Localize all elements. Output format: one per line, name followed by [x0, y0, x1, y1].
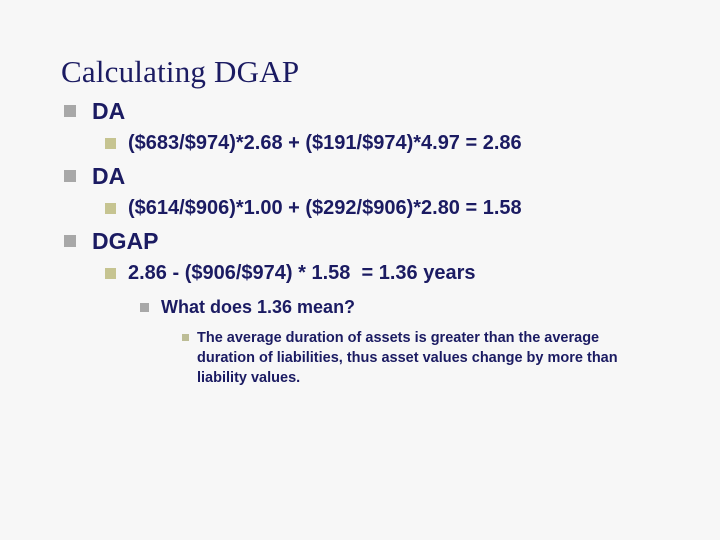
square-bullet-icon — [105, 268, 116, 279]
bullet-label: DGAP — [92, 226, 720, 256]
square-bullet-icon — [64, 105, 76, 117]
bullet-label: ($683/$974)*2.68 + ($191/$974)*4.97 = 2.… — [128, 130, 720, 157]
bullet-label: ($614/$906)*1.00 + ($292/$906)*2.80 = 1.… — [128, 195, 720, 222]
page-title: Calculating DGAP — [61, 53, 299, 90]
square-bullet-icon — [105, 203, 116, 214]
bullet-item-level4-explanation: The average duration of assets is greate… — [0, 328, 720, 388]
bullet-item-level1-dgap: DGAP — [0, 226, 720, 256]
bullet-item-level2-dgap-formula: 2.86 - ($906/$974) * 1.58 = 1.36 years — [0, 260, 720, 287]
bullet-label: The average duration of assets is greate… — [197, 328, 657, 388]
bullet-label: 2.86 - ($906/$974) * 1.58 = 1.36 years — [128, 260, 720, 287]
bullet-label: DA — [92, 96, 720, 126]
bullet-label: DA — [92, 161, 720, 191]
bullet-item-level2-da-formula-2: ($614/$906)*1.00 + ($292/$906)*2.80 = 1.… — [0, 195, 720, 222]
square-bullet-icon — [64, 170, 76, 182]
section-bullet-icon — [182, 334, 189, 341]
bullet-item-level1-da-1: DA — [0, 96, 720, 126]
bullet-item-level3-question: What does 1.36 mean? — [0, 295, 720, 320]
square-bullet-icon — [105, 138, 116, 149]
bullet-item-level1-da-2: DA — [0, 161, 720, 191]
square-bullet-icon — [64, 235, 76, 247]
slide-body-content: DA ($683/$974)*2.68 + ($191/$974)*4.97 =… — [0, 96, 720, 388]
square-bullet-icon — [140, 303, 149, 312]
bullet-item-level2-da-formula-1: ($683/$974)*2.68 + ($191/$974)*4.97 = 2.… — [0, 130, 720, 157]
bullet-label: What does 1.36 mean? — [161, 295, 720, 320]
slide-canvas: Calculating DGAP DA ($683/$974)*2.68 + (… — [0, 0, 720, 540]
